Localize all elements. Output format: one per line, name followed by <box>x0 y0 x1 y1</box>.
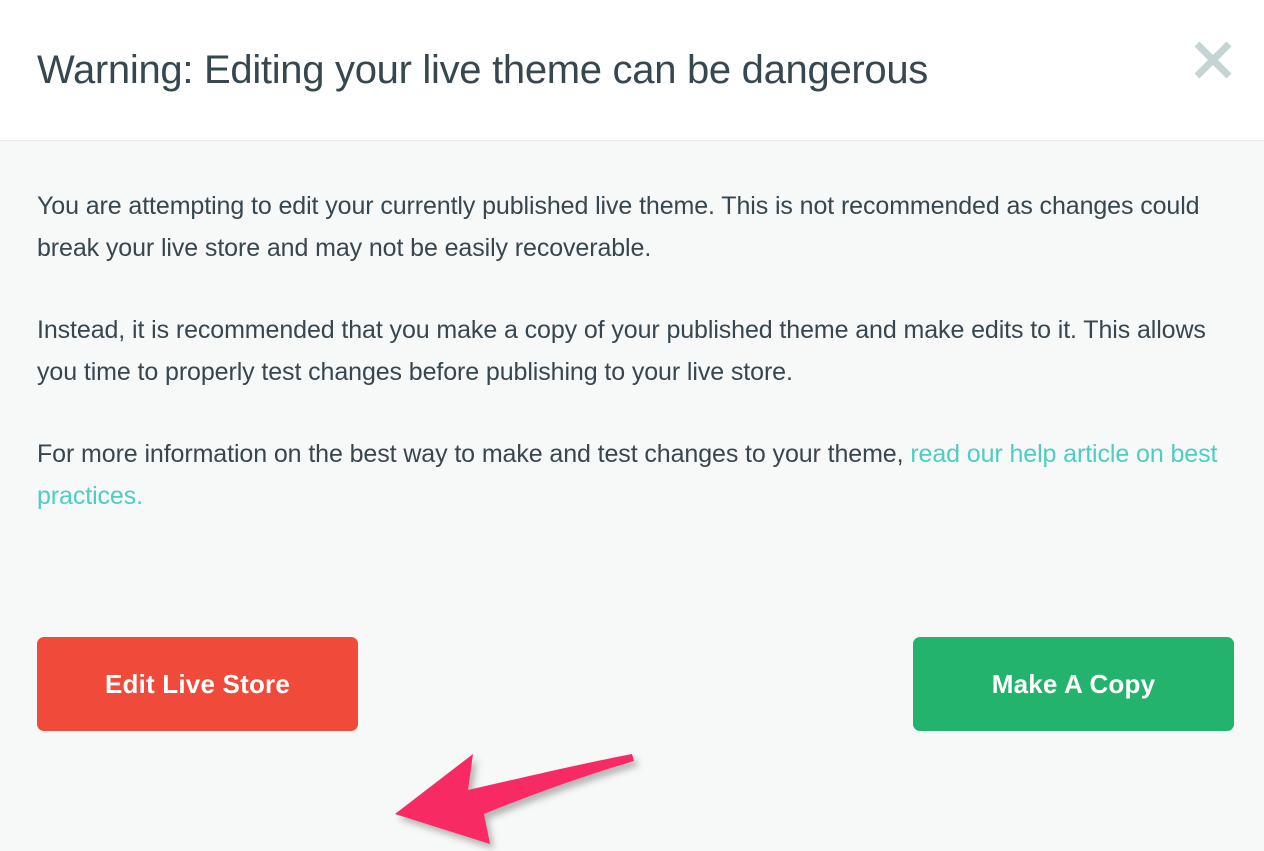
warning-modal: Warning: Editing your live theme can be … <box>0 0 1264 756</box>
make-a-copy-button[interactable]: Make A Copy <box>913 637 1234 731</box>
warning-paragraph-2: Instead, it is recommended that you make… <box>37 309 1228 393</box>
modal-actions: Edit Live Store Make A Copy <box>37 637 1234 731</box>
warning-paragraph-3-text: For more information on the best way to … <box>37 440 910 468</box>
modal-body: You are attempting to edit your currentl… <box>0 141 1264 756</box>
edit-live-store-button[interactable]: Edit Live Store <box>37 637 358 731</box>
warning-paragraph-3: For more information on the best way to … <box>37 433 1228 517</box>
warning-paragraph-1: You are attempting to edit your currentl… <box>37 185 1228 269</box>
page-title: Warning: Editing your live theme can be … <box>37 48 928 92</box>
close-icon <box>1190 37 1236 83</box>
pink-arrow-annotation <box>385 741 645 851</box>
modal-header: Warning: Editing your live theme can be … <box>0 0 1264 141</box>
close-button[interactable] <box>1187 34 1239 86</box>
